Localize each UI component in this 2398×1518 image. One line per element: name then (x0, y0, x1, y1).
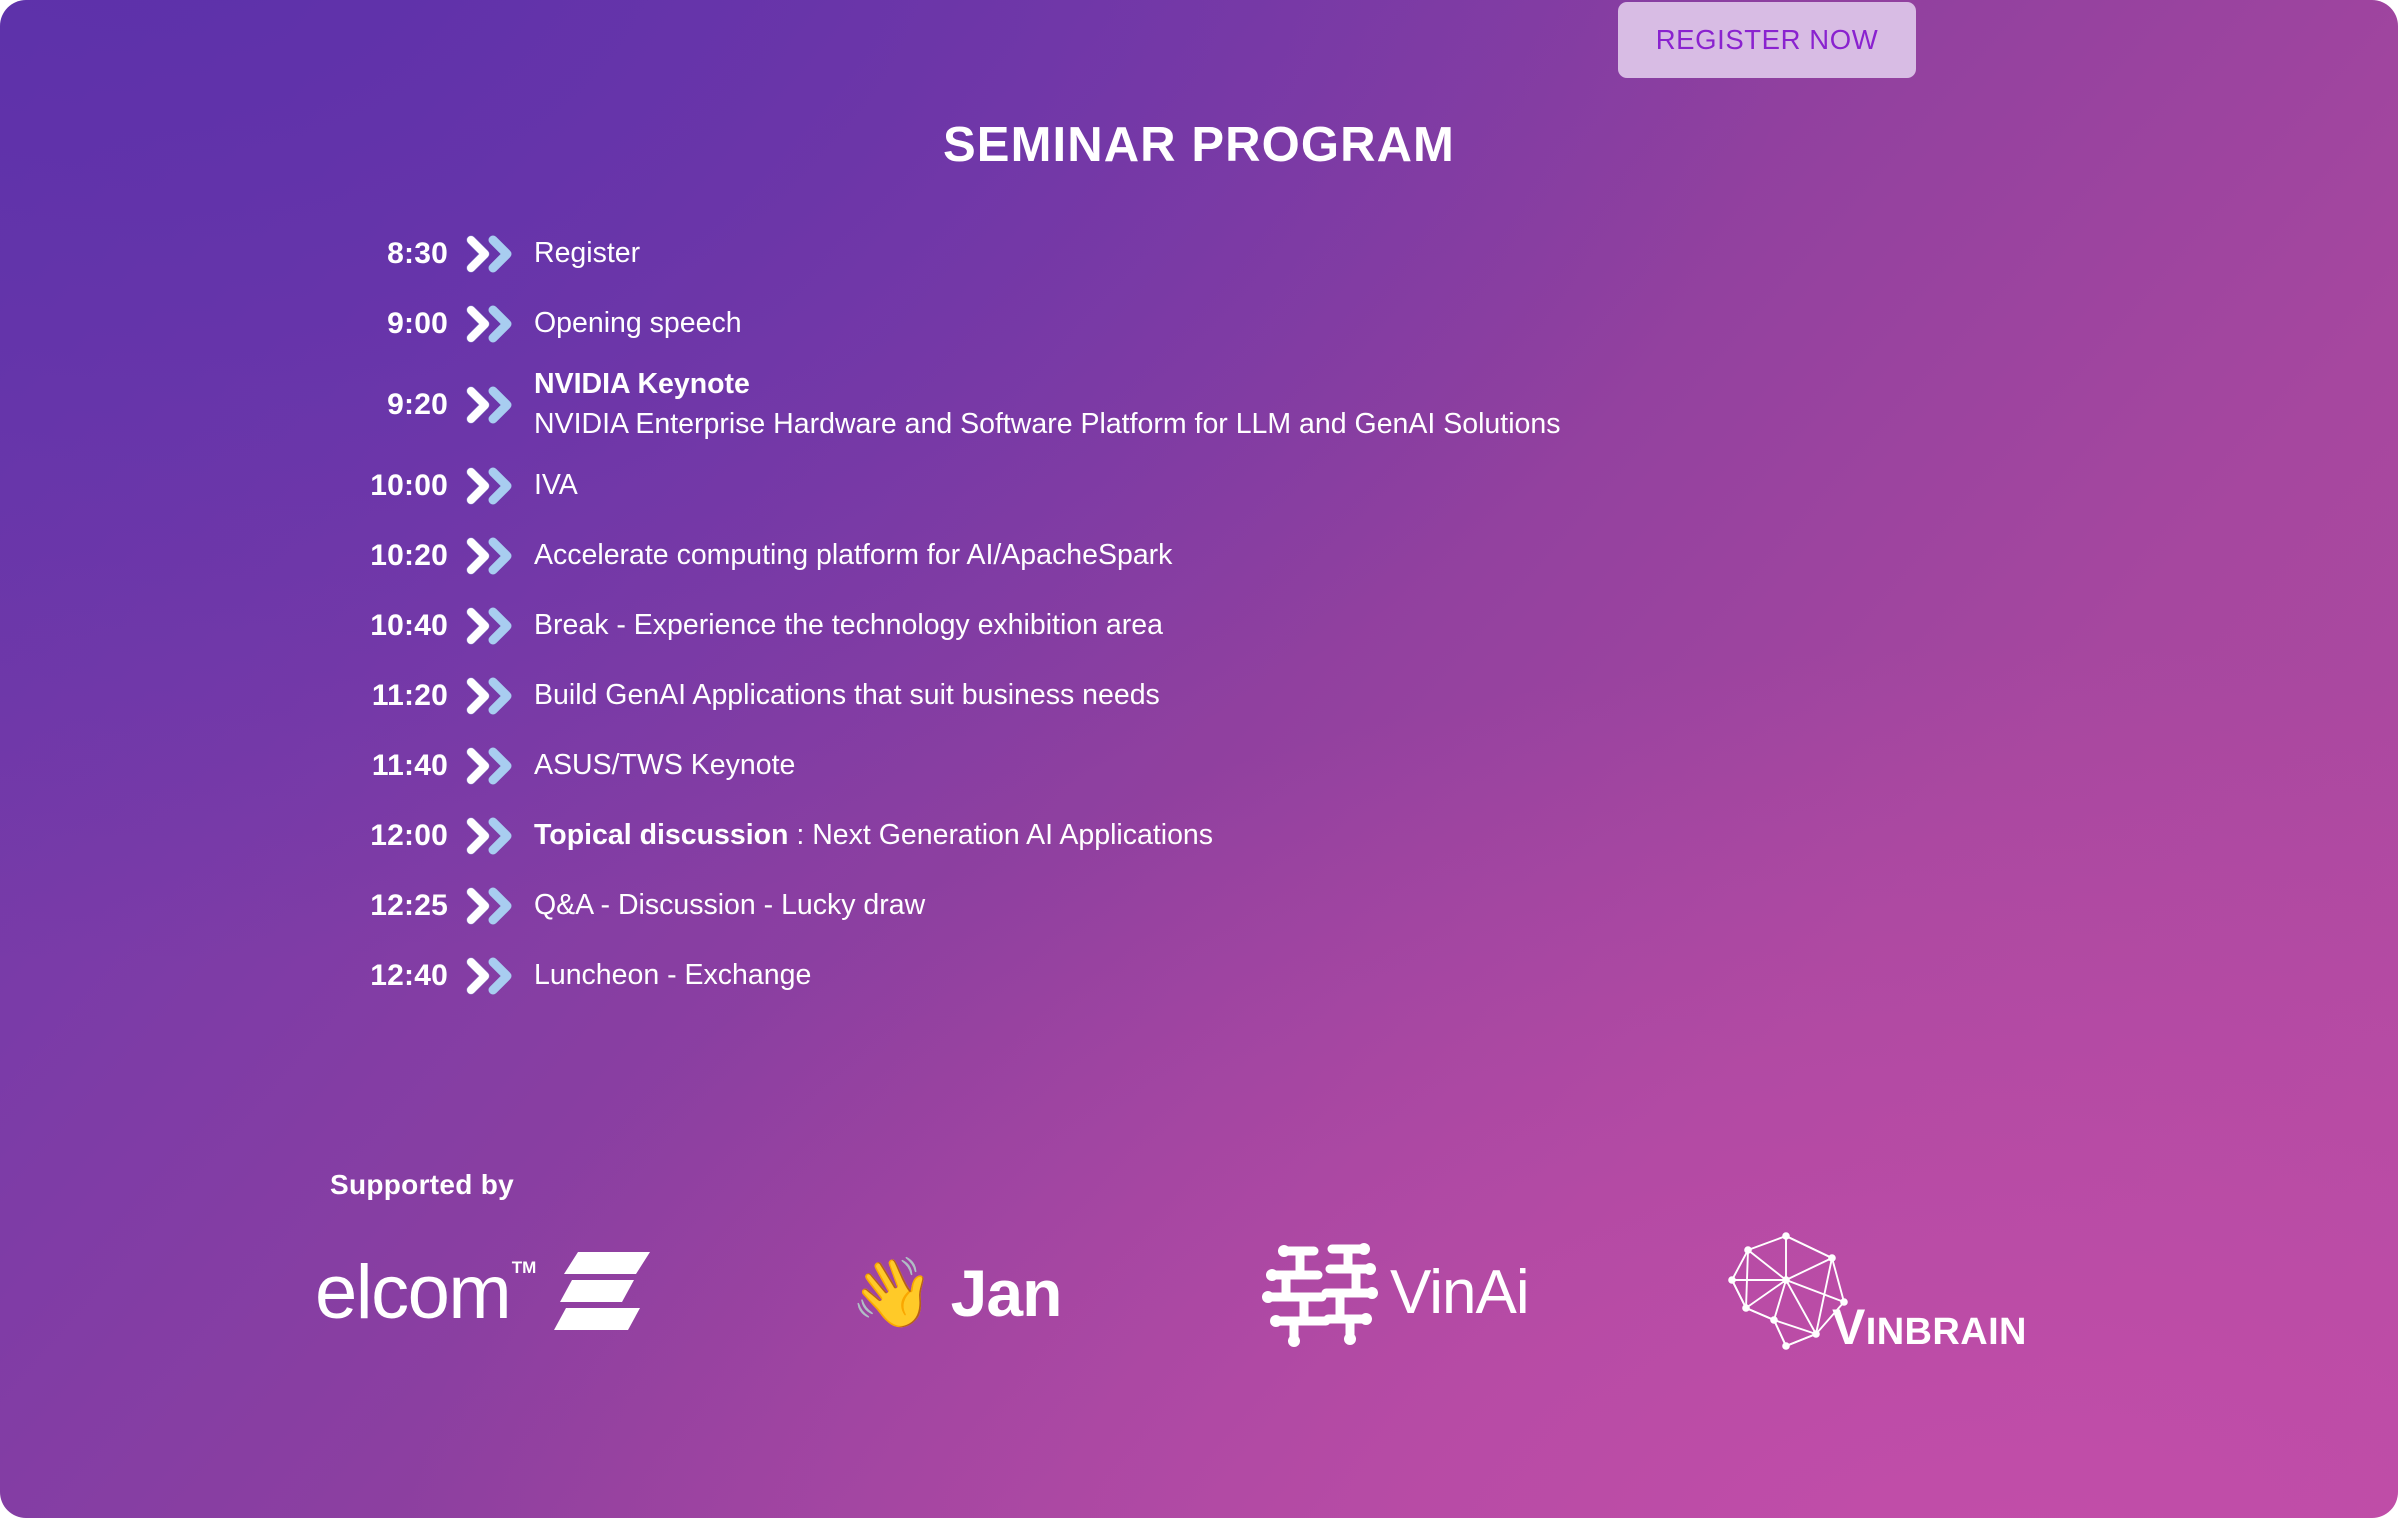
schedule-label: Accelerate computing platform for AI/Apa… (534, 540, 1890, 572)
elcom-word-text: elcom (315, 1250, 510, 1335)
schedule-time: 9:20 (330, 388, 448, 422)
schedule-row: 9:00 Opening speech (330, 289, 1890, 359)
schedule-label: Register (534, 238, 1890, 270)
double-chevron-right-icon (448, 746, 534, 786)
vinai-wordmark: VinAi (1390, 1262, 1529, 1324)
schedule-label-text: Register (534, 237, 640, 269)
double-chevron-right-icon (448, 816, 534, 856)
schedule-label: NVIDIA KeynoteNVIDIA Enterprise Hardware… (534, 369, 1890, 441)
schedule-row: 11:40 ASUS/TWS Keynote (330, 731, 1890, 801)
schedule-time: 12:40 (330, 959, 448, 993)
poster-canvas: REGISTER NOW SEMINAR PROGRAM 8:30 Regist… (0, 0, 2398, 1518)
schedule-row: 11:20 Build GenAI Applications that suit… (330, 661, 1890, 731)
jan-wordmark: Jan (951, 1260, 1062, 1326)
schedule-label-text: Break - Experience the technology exhibi… (534, 609, 1163, 641)
schedule-label: Q&A - Discussion - Lucky draw (534, 890, 1890, 922)
schedule-time: 9:00 (330, 307, 448, 341)
elcom-trademark-symbol: TM (512, 1259, 537, 1276)
schedule-time: 10:00 (330, 469, 448, 503)
schedule-label-rest: : Next Generation AI Applications (788, 819, 1213, 851)
sponsor-logo-vinai[interactable]: VinAi (1240, 1228, 1710, 1358)
sponsor-logo-vinbrain[interactable]: VINBRAIN (1710, 1228, 2170, 1358)
elcom-e-mark-icon (552, 1252, 650, 1335)
seminar-schedule-list: 8:30 Register9:00 Opening speech9:20 NVI… (330, 219, 1890, 1011)
schedule-row: 12:25 Q&A - Discussion - Lucky draw (330, 871, 1890, 941)
schedule-row: 12:00 Topical discussion : Next Generati… (330, 801, 1890, 871)
schedule-label-text: ASUS/TWS Keynote (534, 749, 795, 781)
double-chevron-right-icon (448, 676, 534, 716)
schedule-label: Opening speech (534, 308, 1890, 340)
schedule-label: Break - Experience the technology exhibi… (534, 610, 1890, 642)
schedule-label-text: Accelerate computing platform for AI/Apa… (534, 539, 1172, 571)
schedule-label: Luncheon - Exchange (534, 960, 1890, 992)
schedule-row: 10:20 Accelerate computing platform for … (330, 521, 1890, 591)
double-chevron-right-icon (448, 956, 534, 996)
schedule-label: Build GenAI Applications that suit busin… (534, 680, 1890, 712)
schedule-label-bold: Topical discussion (534, 819, 788, 851)
schedule-row: 10:00 IVA (330, 451, 1890, 521)
vinbrain-wordmark: VINBRAIN (1832, 1302, 2027, 1352)
schedule-time: 8:30 (330, 237, 448, 271)
schedule-time: 10:20 (330, 539, 448, 573)
schedule-label: IVA (534, 470, 1890, 502)
double-chevron-right-icon (448, 304, 534, 344)
page-title: SEMINAR PROGRAM (0, 117, 2398, 173)
sponsor-logo-elcom[interactable]: elcomTM (300, 1228, 820, 1358)
supported-by-heading: Supported by (330, 1169, 514, 1201)
schedule-time: 12:00 (330, 819, 448, 853)
elcom-wordmark: elcomTM (315, 1255, 510, 1331)
vinbrain-word-cap: V (1832, 1299, 1866, 1355)
register-now-button[interactable]: REGISTER NOW (1618, 2, 1916, 78)
double-chevron-right-icon (448, 466, 534, 506)
waving-hand-icon: 👋 (850, 1259, 935, 1327)
double-chevron-right-icon (448, 536, 534, 576)
schedule-row: 10:40 Break - Experience the technology … (330, 591, 1890, 661)
schedule-label-title: NVIDIA Keynote (534, 369, 1890, 401)
vinbrain-word-rest: INBRAIN (1866, 1311, 2027, 1353)
schedule-row: 12:40 Luncheon - Exchange (330, 941, 1890, 1011)
schedule-label-text: IVA (534, 469, 578, 501)
double-chevron-right-icon (448, 385, 534, 425)
schedule-label-text: Luncheon - Exchange (534, 959, 811, 991)
schedule-time: 11:40 (330, 749, 448, 783)
schedule-label: Topical discussion : Next Generation AI … (534, 820, 1890, 852)
schedule-label-text: Build GenAI Applications that suit busin… (534, 679, 1160, 711)
schedule-time: 11:20 (330, 679, 448, 713)
sponsor-logo-jan[interactable]: 👋 Jan (820, 1228, 1240, 1358)
schedule-label-text: Opening speech (534, 307, 742, 339)
vinai-circuit-mark-icon (1260, 1235, 1378, 1352)
sponsor-logo-row: elcomTM 👋 Jan (300, 1228, 2170, 1358)
schedule-time: 10:40 (330, 609, 448, 643)
double-chevron-right-icon (448, 606, 534, 646)
double-chevron-right-icon (448, 234, 534, 274)
schedule-label-subtitle: NVIDIA Enterprise Hardware and Software … (534, 409, 1890, 441)
schedule-label: ASUS/TWS Keynote (534, 750, 1890, 782)
schedule-label-text: Q&A - Discussion - Lucky draw (534, 889, 925, 921)
schedule-row: 8:30 Register (330, 219, 1890, 289)
schedule-time: 12:25 (330, 889, 448, 923)
schedule-row: 9:20 NVIDIA KeynoteNVIDIA Enterprise Har… (330, 359, 1890, 451)
double-chevron-right-icon (448, 886, 534, 926)
